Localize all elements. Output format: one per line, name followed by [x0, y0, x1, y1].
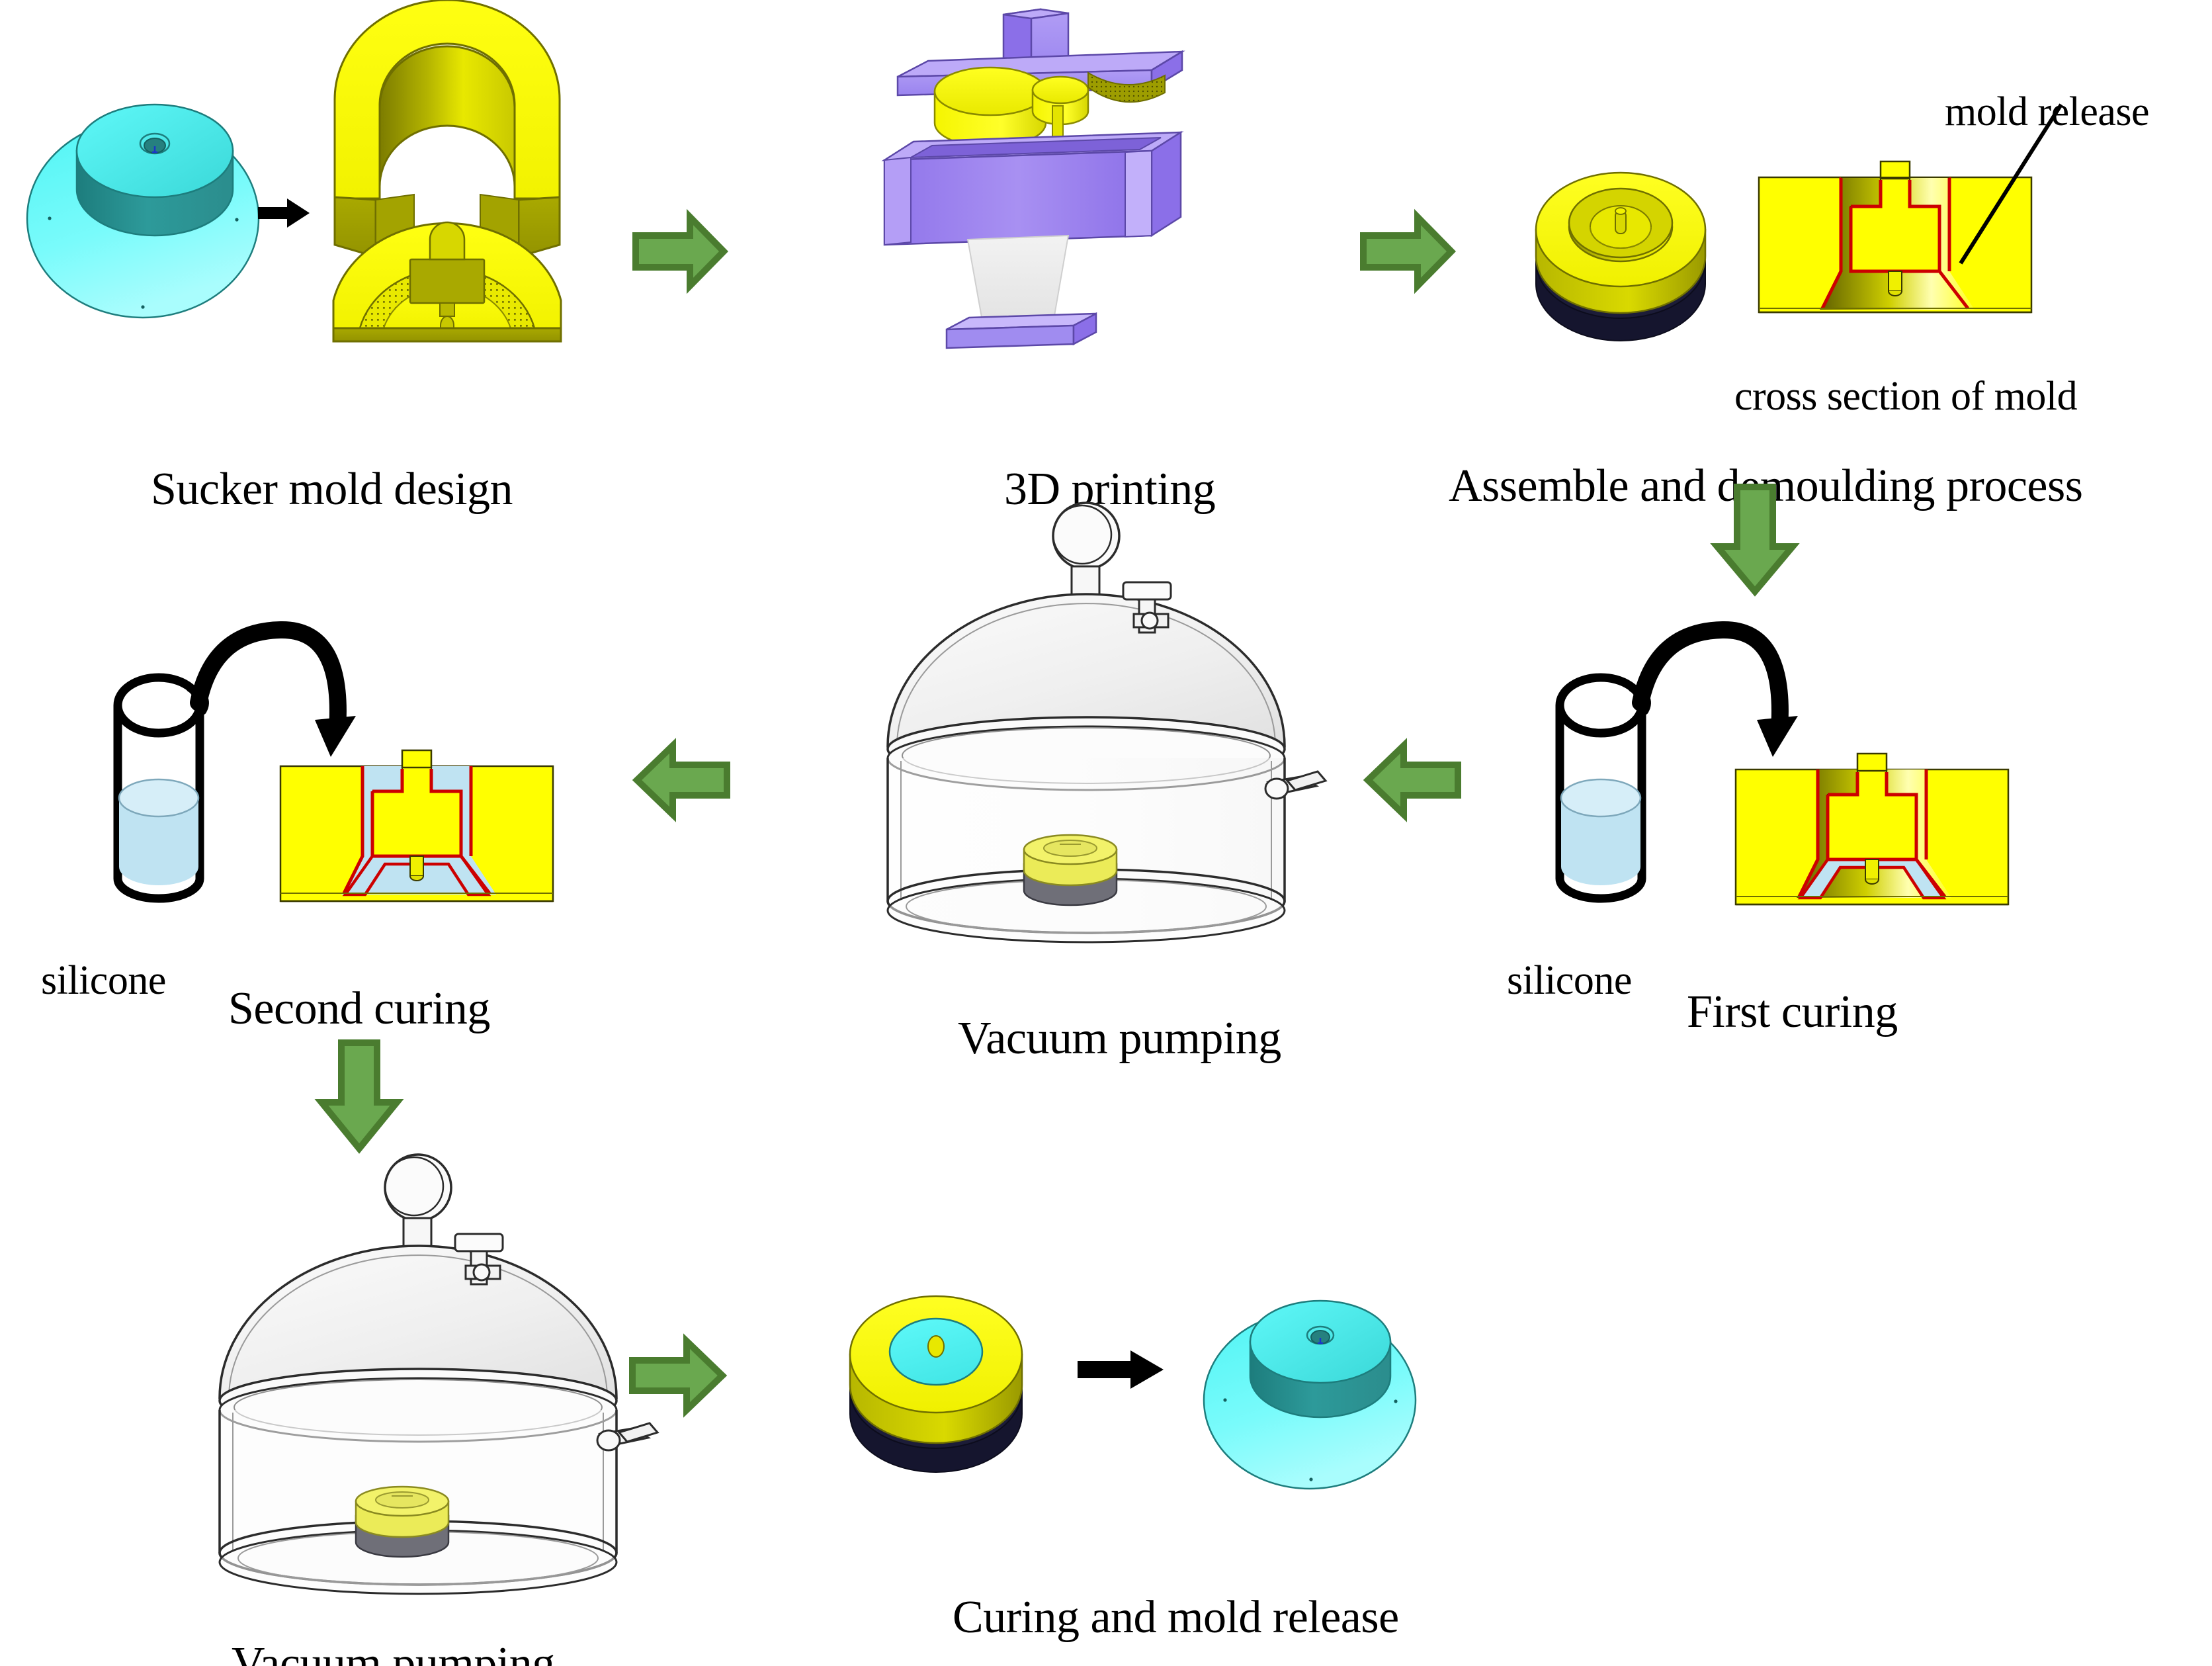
cured-mold-with-part	[837, 1260, 1035, 1479]
mold-cross-section-first-curing	[1733, 751, 2011, 916]
annotation-silicone-left: silicone	[41, 957, 166, 1004]
flow-arrow-4-left	[1363, 741, 1462, 819]
process-flow-diagram: Sucker mold design	[0, 0, 2212, 1666]
step-label-sucker-mold-design: Sucker mold design	[151, 463, 513, 516]
step-label-curing-and-mold-release: Curing and mold release	[953, 1591, 1399, 1644]
annotation-mold-release: mold release	[1945, 89, 2149, 136]
flow-arrow-6-down	[318, 1039, 401, 1153]
mold-upper-half	[335, 0, 560, 257]
vacuum-desiccator-bottom	[185, 1148, 688, 1624]
step-label-first-curing: First curing	[1687, 986, 1898, 1039]
desiccator-knob	[385, 1155, 451, 1260]
vacuum-desiccator-mid	[853, 496, 1356, 973]
step-label-second-curing: Second curing	[228, 983, 490, 1035]
flow-arrow-2-right	[1359, 213, 1455, 290]
step-label-vacuum-pumping-mid: Vacuum pumping	[958, 1012, 1281, 1065]
flow-arrow-3-down	[1713, 483, 1797, 595]
mold-cross-section-second-curing	[278, 748, 556, 913]
printer-resin-vat	[884, 132, 1181, 245]
flow-arrow-5-left	[632, 741, 731, 819]
arrow-black-sucker-to-mold	[258, 198, 310, 228]
pour-arrow-right	[1634, 615, 1806, 767]
pour-arrow-left	[192, 615, 364, 767]
assembled-mold-3d	[1521, 142, 1720, 354]
arrow-black-demould	[1075, 1346, 1168, 1393]
printer-projector-base	[947, 314, 1096, 348]
step-3d-printing	[850, 7, 1254, 357]
desiccator-knob	[1053, 503, 1119, 609]
step-sucker-mold-design	[13, 26, 622, 344]
mold-sample-inside-bottom	[356, 1487, 448, 1557]
sucker-part-3d	[27, 105, 259, 318]
released-sucker-part	[1197, 1244, 1429, 1495]
mold-sample-inside-mid	[1024, 835, 1117, 905]
annotation-cross-section-of-mold: cross section of mold	[1734, 373, 2077, 420]
flow-arrow-1-right	[632, 213, 728, 290]
annotation-silicone-right: silicone	[1507, 957, 1632, 1004]
step-label-vacuum-pumping-bottom: Vacuum pumping	[232, 1638, 555, 1666]
flow-arrow-7-right	[628, 1337, 728, 1415]
